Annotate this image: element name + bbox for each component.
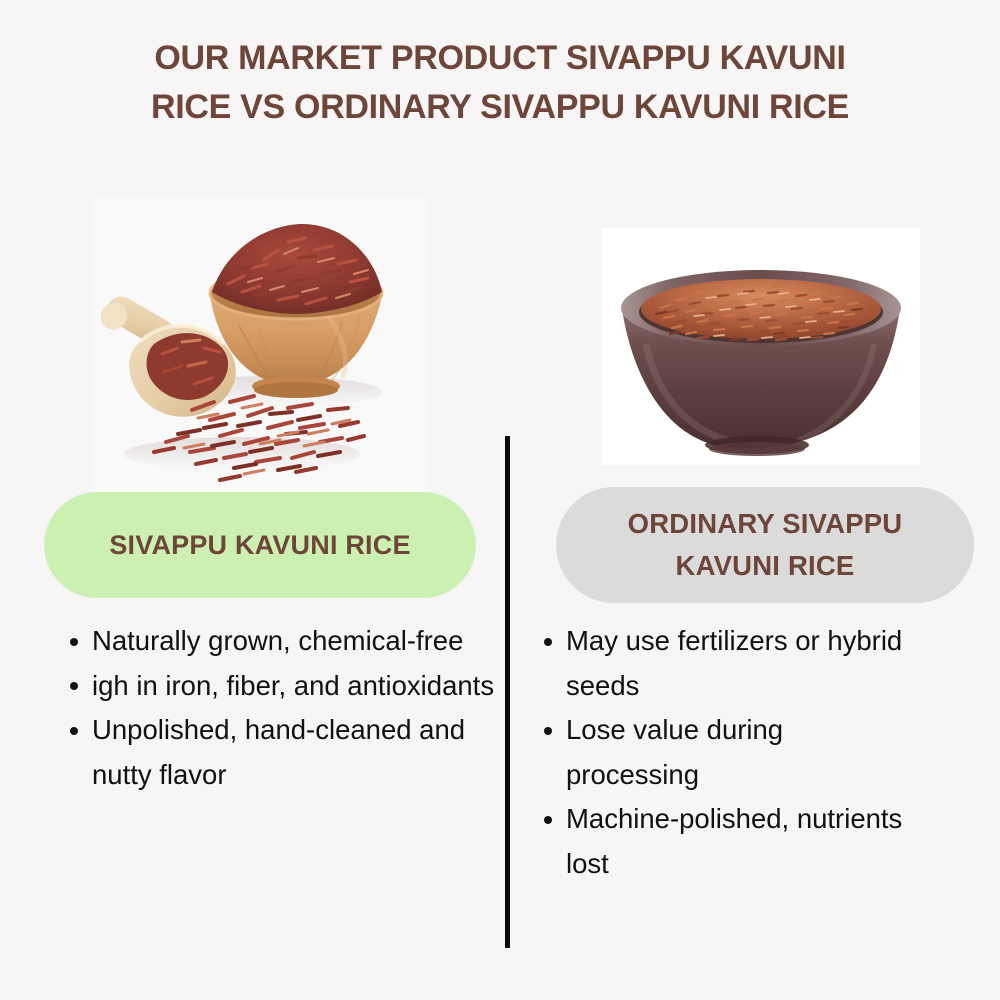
status-badge-ordinary-sivappu-kavuni-rice: ORDINARY SIVAPPU KAVUNI RICE [556, 487, 974, 603]
pill-right-label-line-1: ORDINARY SIVAPPU [628, 503, 903, 545]
pill-right-label-line-2: KAVUNI RICE [628, 545, 903, 587]
wooden-bowl-with-red-rice-and-scoop-photo [92, 196, 428, 492]
dark-ceramic-bowl-with-red-rice-photo [602, 252, 920, 465]
right-photo-card-top [602, 228, 920, 252]
right-drawbacks-list: May use fertilizers or hybrid seeds Lose… [532, 619, 922, 886]
list-item: Lose value during processing [532, 708, 922, 797]
list-item: igh in iron, fiber, and antioxidants [58, 664, 510, 709]
list-item: Machine-polished, nutrients lost [532, 797, 922, 886]
page-title-line-1: OUR MARKET PRODUCT SIVAPPU KAVUNI [65, 34, 936, 83]
list-item: May use fertilizers or hybrid seeds [532, 619, 922, 708]
pill-left-label: SIVAPPU KAVUNI RICE [109, 530, 410, 561]
page-title: OUR MARKET PRODUCT SIVAPPU KAVUNI RICE V… [0, 34, 1000, 132]
left-benefits-list: Naturally grown, chemical-free igh in ir… [58, 619, 510, 797]
page-title-line-2: RICE VS ORDINARY SIVAPPU KAVUNI RICE [65, 83, 936, 132]
list-item: Naturally grown, chemical-free [58, 619, 510, 664]
status-badge-sivappu-kavuni-rice: SIVAPPU KAVUNI RICE [44, 492, 476, 598]
list-item: Unpolished, hand-cleaned and nutty flavo… [58, 708, 510, 797]
